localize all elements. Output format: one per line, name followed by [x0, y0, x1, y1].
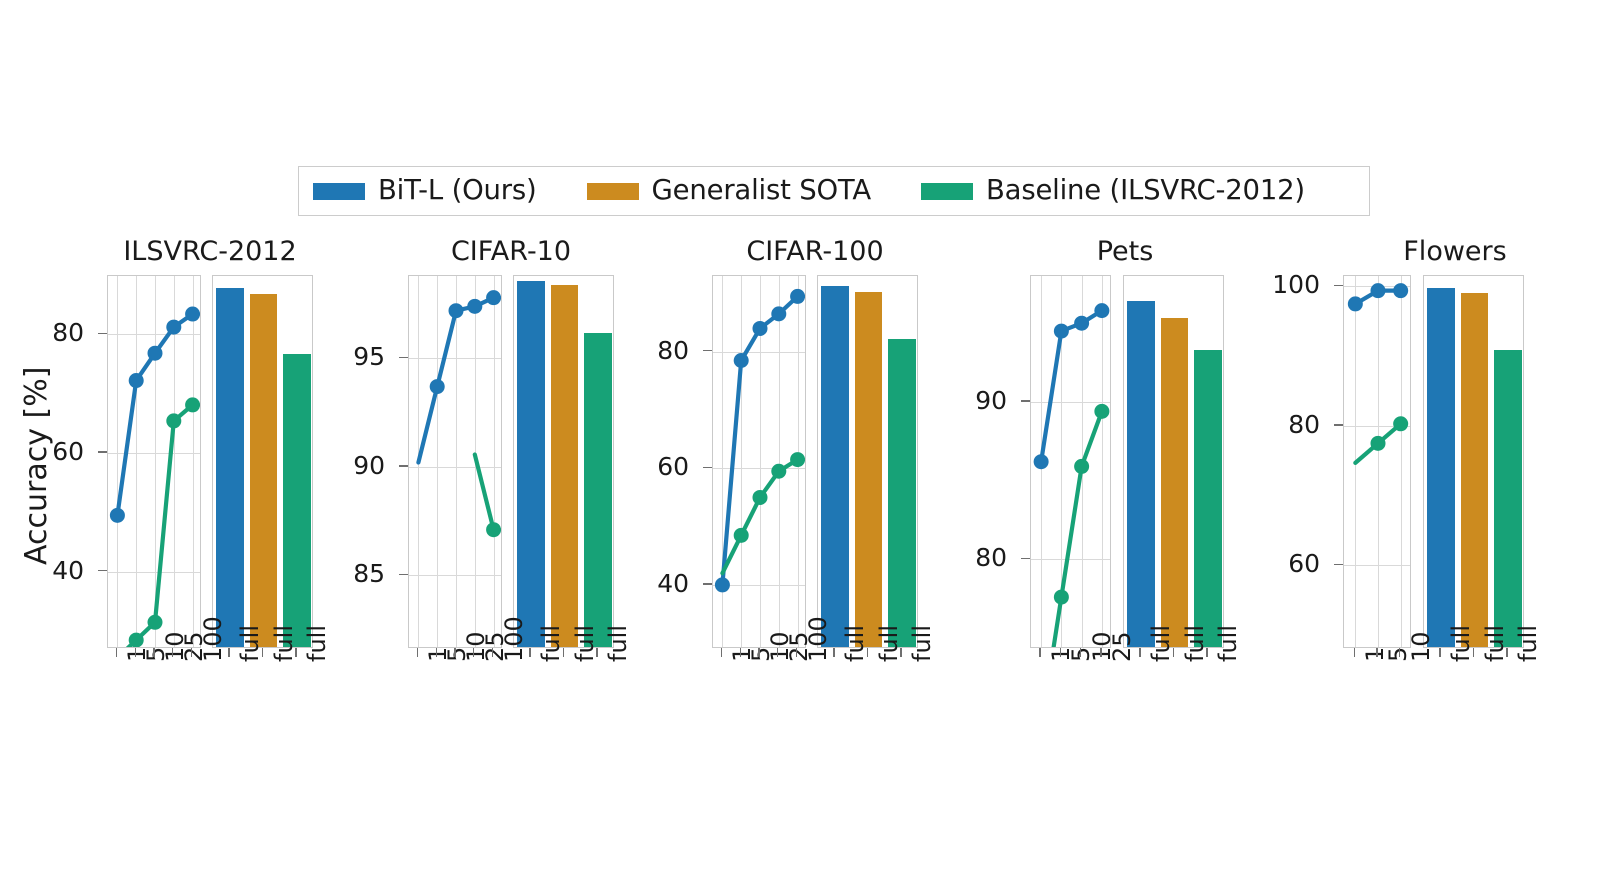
legend-entry-1[interactable]: Generalist SOTA [573, 167, 871, 215]
bar-generalist-sota [1461, 293, 1489, 647]
x-tick-mark [1473, 648, 1474, 657]
series-line-baseline [1041, 411, 1102, 647]
bar-axes-pets [1123, 275, 1224, 648]
series-marker [486, 522, 501, 537]
x-tick-label: full [238, 625, 262, 662]
series-marker [1393, 283, 1408, 298]
series-marker [790, 289, 805, 304]
y-tick-mark [1334, 564, 1343, 565]
x-tick-mark [1206, 648, 1207, 657]
x-tick-label: full [843, 625, 867, 662]
series-marker [771, 464, 786, 479]
series-line-bit-l [418, 298, 493, 463]
line-plot-area [1031, 276, 1110, 647]
series-marker [1074, 316, 1089, 331]
x-tick-mark [1439, 648, 1440, 657]
bar-generalist-sota [855, 292, 883, 647]
y-tick-mark [703, 583, 712, 584]
x-tick-label: full [1216, 625, 1240, 662]
legend-label: Baseline (ILSVRC-2012) [986, 177, 1305, 205]
figure-canvas: BiT-L (Ours)Generalist SOTABaseline (ILS… [0, 0, 1600, 891]
y-tick-mark [98, 451, 107, 452]
series-marker [1034, 454, 1049, 469]
x-tick-label: 10 [1409, 631, 1433, 662]
x-tick-mark [1100, 648, 1101, 657]
bar-axes-flowers [1423, 275, 1524, 648]
bar-baseline [1194, 350, 1222, 647]
bar-generalist-sota [1161, 318, 1189, 647]
y-tick-label: 95 [285, 344, 385, 369]
series-marker [1074, 459, 1089, 474]
y-tick-label: 60 [0, 439, 84, 464]
series-marker [1094, 303, 1109, 318]
x-tick-mark [777, 648, 778, 657]
series-marker [185, 397, 200, 412]
bar-plot-area [1124, 276, 1223, 647]
x-tick-mark [262, 648, 263, 657]
series-marker [486, 290, 501, 305]
legend-entry-0[interactable]: BiT-L (Ours) [299, 167, 537, 215]
series-marker [734, 353, 749, 368]
x-tick-mark [1399, 648, 1400, 657]
x-tick-label: full [305, 625, 329, 662]
line-axes-cifar-100 [712, 275, 806, 648]
x-tick-mark [596, 648, 597, 657]
line-plot-area [1344, 276, 1410, 647]
y-axis-label: Accuracy [%] [22, 367, 52, 565]
x-tick-mark [1376, 648, 1377, 657]
y-tick-label: 90 [907, 388, 1007, 413]
y-tick-mark [1334, 285, 1343, 286]
line-series-layer [108, 276, 200, 647]
x-tick-mark [417, 648, 418, 657]
x-tick-label: full [910, 625, 934, 662]
x-tick-mark [1080, 648, 1081, 657]
series-marker [129, 633, 144, 647]
x-tick-mark [295, 648, 296, 657]
subplot-title-flowers: Flowers [1255, 238, 1600, 265]
y-tick-label: 80 [0, 320, 84, 345]
y-tick-mark [399, 465, 408, 466]
x-tick-label: 100 [502, 616, 526, 662]
y-tick-label: 90 [285, 453, 385, 478]
line-series-layer [1344, 276, 1410, 647]
x-tick-mark [529, 648, 530, 657]
x-tick-mark [116, 648, 117, 657]
x-tick-mark [758, 648, 759, 657]
y-tick-label: 80 [1220, 412, 1320, 437]
line-series-layer [1031, 276, 1110, 647]
x-tick-mark [563, 648, 564, 657]
series-marker [129, 373, 144, 388]
x-tick-mark [867, 648, 868, 657]
line-plot-area [713, 276, 805, 647]
x-tick-mark [833, 648, 834, 657]
y-tick-mark [703, 350, 712, 351]
x-tick-mark [172, 648, 173, 657]
legend-swatch-icon [587, 183, 639, 200]
series-marker [166, 320, 181, 335]
x-tick-label: 25 [1110, 631, 1134, 662]
bar-bit-l [821, 286, 849, 647]
series-marker [185, 307, 200, 322]
y-tick-mark [98, 333, 107, 334]
y-tick-mark [399, 357, 408, 358]
legend-label: BiT-L (Ours) [378, 177, 537, 205]
y-tick-mark [1334, 424, 1343, 425]
x-tick-mark [1060, 648, 1061, 657]
series-marker [1393, 416, 1408, 431]
bar-bit-l [1127, 301, 1155, 647]
bar-bit-l [216, 288, 244, 647]
chart-legend: BiT-L (Ours)Generalist SOTABaseline (ILS… [298, 166, 1370, 216]
series-marker [1348, 296, 1363, 311]
x-tick-label: full [272, 625, 296, 662]
x-tick-mark [153, 648, 154, 657]
series-marker [753, 490, 768, 505]
x-tick-label: full [1149, 625, 1173, 662]
line-series-layer [409, 276, 501, 647]
y-tick-mark [1021, 400, 1030, 401]
x-tick-mark [1039, 648, 1040, 657]
legend-label: Generalist SOTA [652, 177, 871, 205]
line-series-layer [713, 276, 805, 647]
x-tick-mark [492, 648, 493, 657]
series-line-bit-l [722, 296, 797, 584]
series-marker [166, 413, 181, 428]
series-marker [467, 299, 482, 314]
y-tick-label: 80 [589, 338, 689, 363]
legend-swatch-icon [313, 183, 365, 200]
line-plot-area [108, 276, 200, 647]
series-marker [430, 379, 445, 394]
bar-axes-cifar-100 [817, 275, 918, 648]
y-tick-label: 85 [285, 561, 385, 586]
y-tick-mark [399, 574, 408, 575]
line-axes-flowers [1343, 275, 1411, 648]
y-tick-label: 100 [1220, 272, 1320, 297]
x-tick-label: full [1483, 625, 1507, 662]
line-axes-pets [1030, 275, 1111, 648]
series-line-baseline [722, 460, 797, 574]
series-marker [790, 452, 805, 467]
bar-plot-area [1424, 276, 1523, 647]
bar-bit-l [1427, 288, 1455, 647]
x-tick-mark [796, 648, 797, 657]
y-tick-mark [1021, 558, 1030, 559]
x-tick-mark [228, 648, 229, 657]
series-marker [449, 303, 464, 318]
x-tick-label: full [877, 625, 901, 662]
x-tick-label: full [1449, 625, 1473, 662]
bar-baseline [1494, 350, 1522, 647]
legend-swatch-icon [921, 183, 973, 200]
x-tick-label: 100 [806, 616, 830, 662]
legend-entry-2[interactable]: Baseline (ILSVRC-2012) [907, 167, 1305, 215]
bar-baseline [584, 333, 612, 647]
y-tick-label: 60 [1220, 551, 1320, 576]
x-tick-label: full [606, 625, 630, 662]
y-tick-mark [703, 467, 712, 468]
series-marker [1054, 590, 1069, 605]
y-tick-label: 40 [0, 558, 84, 583]
y-tick-mark [98, 570, 107, 571]
x-tick-mark [1354, 648, 1355, 657]
x-tick-label: 100 [201, 616, 225, 662]
series-marker [1054, 324, 1069, 339]
x-tick-mark [740, 648, 741, 657]
series-line-baseline [475, 455, 494, 530]
x-tick-label: full [1183, 625, 1207, 662]
series-marker [715, 577, 730, 592]
bar-plot-area [818, 276, 917, 647]
x-tick-mark [900, 648, 901, 657]
x-tick-mark [436, 648, 437, 657]
series-marker [148, 615, 163, 630]
x-tick-mark [1139, 648, 1140, 657]
x-tick-mark [473, 648, 474, 657]
line-plot-area [409, 276, 501, 647]
line-axes-cifar-10 [408, 275, 502, 648]
x-tick-label: full [1516, 625, 1540, 662]
bar-baseline [888, 339, 916, 647]
x-tick-mark [1506, 648, 1507, 657]
y-tick-label: 60 [589, 454, 689, 479]
x-tick-mark [454, 648, 455, 657]
line-axes-ilsvrc-2012 [107, 275, 201, 648]
x-tick-mark [191, 648, 192, 657]
x-tick-label: full [573, 625, 597, 662]
series-marker [753, 321, 768, 336]
bar-generalist-sota [250, 294, 278, 647]
bar-bit-l [517, 281, 545, 647]
x-tick-mark [721, 648, 722, 657]
series-marker [110, 508, 125, 523]
y-tick-label: 40 [589, 571, 689, 596]
y-tick-label: 80 [907, 545, 1007, 570]
bar-baseline [283, 354, 311, 647]
series-marker [771, 306, 786, 321]
x-tick-mark [1173, 648, 1174, 657]
x-tick-mark [135, 648, 136, 657]
series-marker [734, 528, 749, 543]
series-marker [148, 346, 163, 361]
series-marker [1094, 404, 1109, 419]
series-marker [1371, 436, 1386, 451]
x-tick-label: full [539, 625, 563, 662]
series-marker [1371, 283, 1386, 298]
bar-generalist-sota [551, 285, 579, 647]
